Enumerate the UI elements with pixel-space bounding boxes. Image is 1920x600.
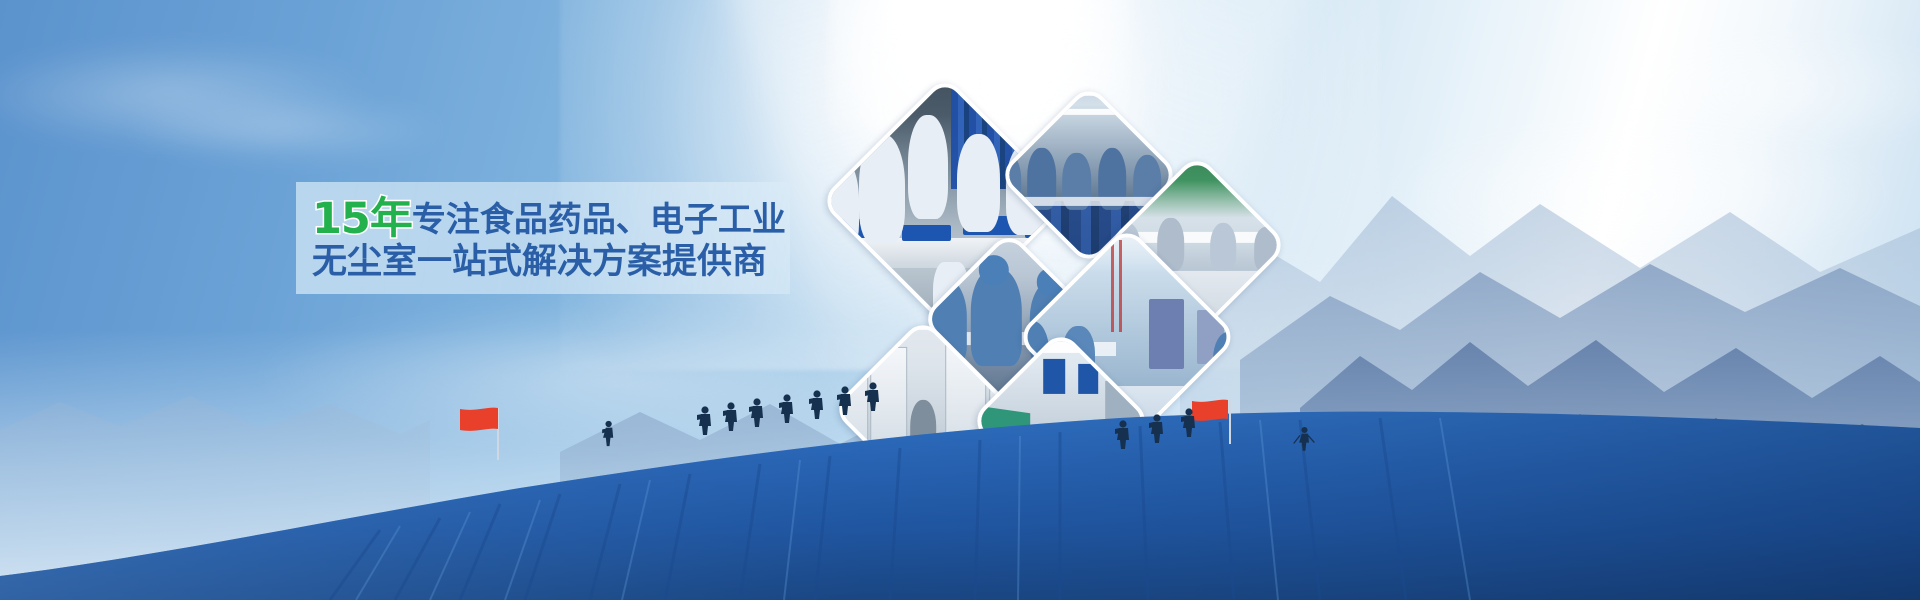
hero-banner: 15年专注食品药品、电子工业 无尘室一站式解决方案提供商 — [0, 0, 1920, 600]
climber — [697, 406, 711, 435]
climber — [1115, 420, 1129, 449]
climber — [809, 390, 823, 419]
climber — [723, 402, 737, 431]
climber — [779, 394, 793, 423]
climber — [865, 382, 879, 411]
climbers-group — [0, 0, 1920, 600]
climber — [602, 421, 613, 446]
climber — [749, 398, 763, 427]
climber — [1181, 408, 1195, 437]
climber — [1149, 414, 1163, 443]
climber — [1294, 427, 1315, 451]
climber — [837, 386, 851, 415]
